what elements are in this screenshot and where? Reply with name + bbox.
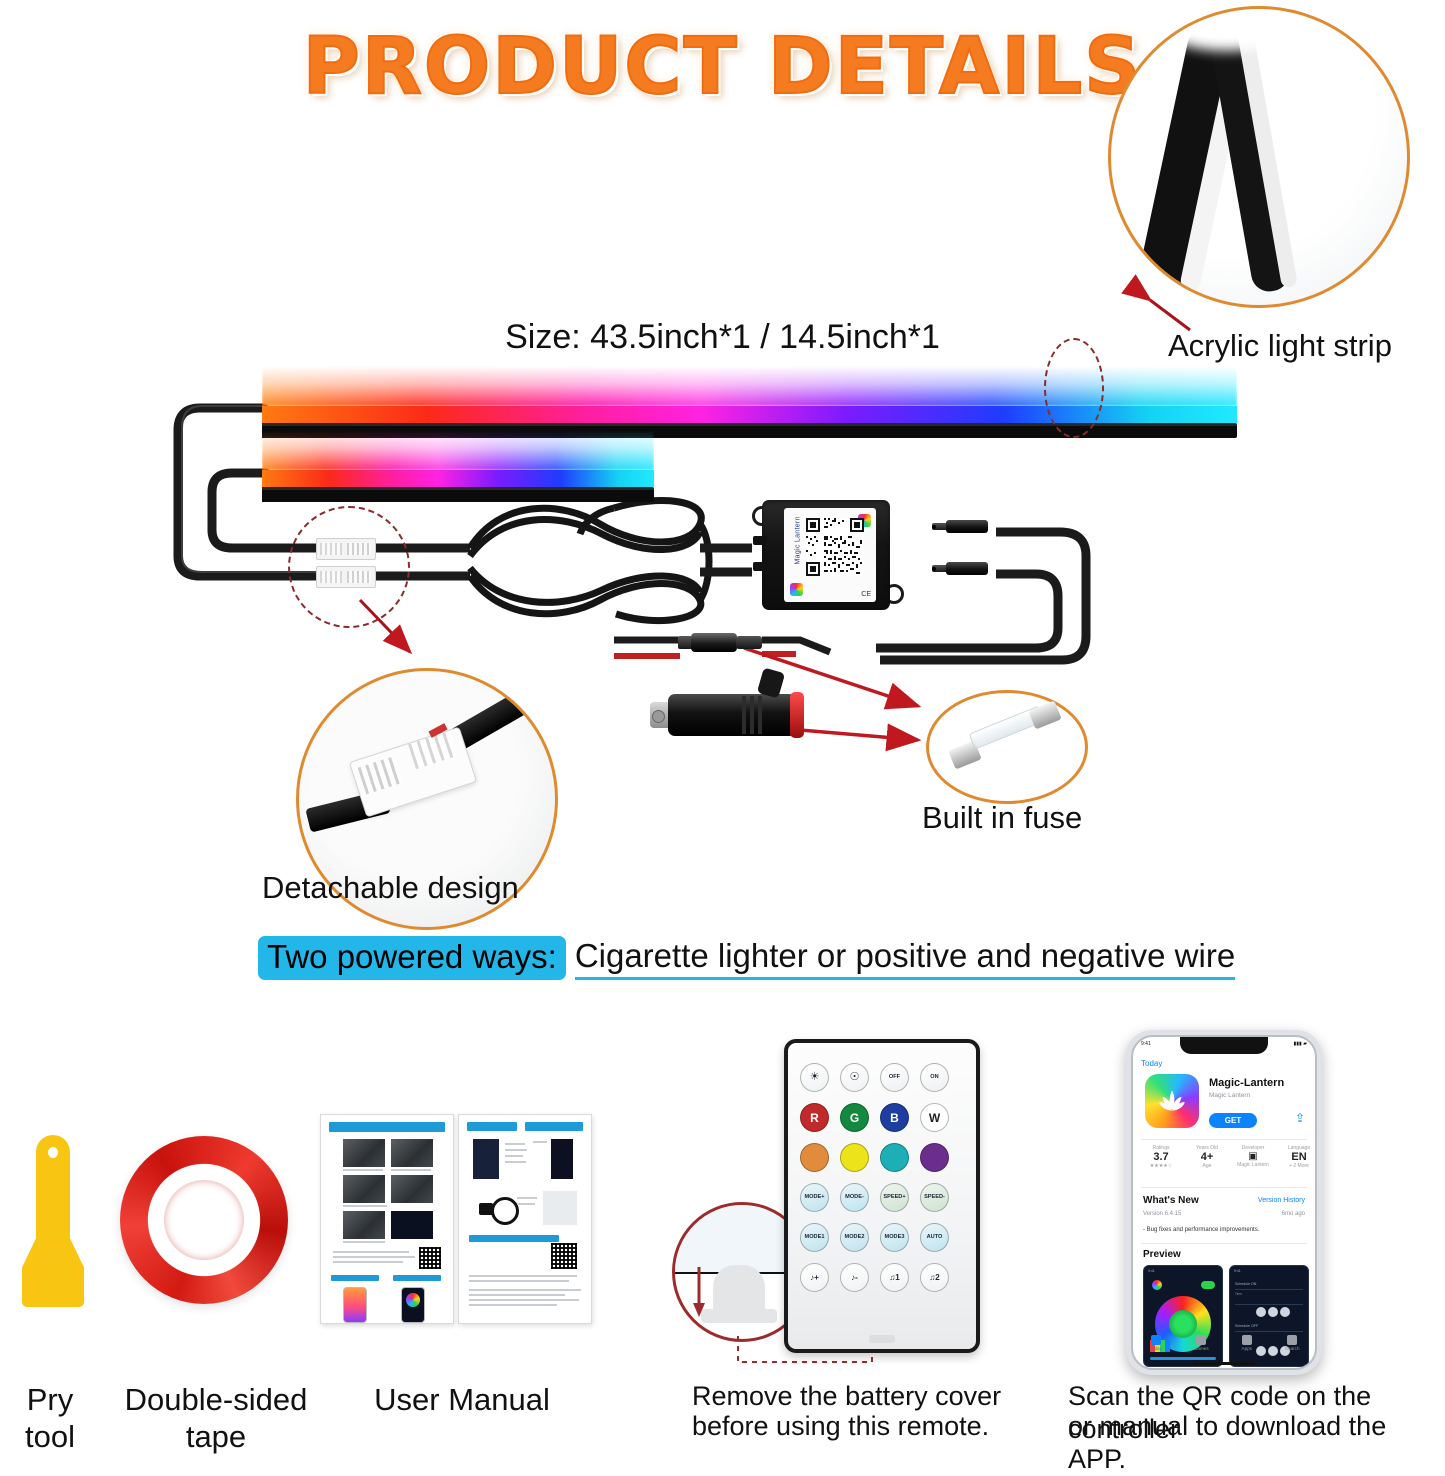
stat-rating: Ratings 3.7 ★★★★☆	[1139, 1145, 1183, 1169]
lang-note: + 2 More	[1277, 1163, 1317, 1169]
controller-port-1	[753, 536, 767, 545]
tab-games[interactable]: Games	[1179, 1332, 1225, 1358]
pry-tool-blade	[22, 1239, 84, 1307]
strip-base	[262, 487, 654, 502]
status-time: 9:41	[1141, 1041, 1151, 1047]
divider	[1141, 1139, 1307, 1140]
dc-barrel	[946, 562, 988, 575]
preview-heading: Preview	[1143, 1249, 1181, 1260]
remote-button-r[interactable]: R	[800, 1103, 829, 1132]
connector-upper	[316, 538, 376, 560]
search-icon	[1287, 1335, 1297, 1345]
tab-search[interactable]: Search	[1270, 1332, 1316, 1358]
ce-mark: CE	[861, 591, 871, 598]
tab-label: Search	[1285, 1346, 1300, 1351]
tab-label: Games	[1194, 1346, 1209, 1351]
remote-brightness-down-icon[interactable]: ☉	[840, 1063, 869, 1092]
pry-tool	[22, 1135, 84, 1310]
status-icons: ▮▮▮ ▰	[1294, 1041, 1308, 1047]
version-history-link[interactable]: Version History	[1258, 1197, 1305, 1204]
remote-button-mode2[interactable]: MODE2	[840, 1223, 869, 1252]
remote-battery-cover[interactable]	[869, 1335, 895, 1343]
remote-color-button-2-3[interactable]	[920, 1143, 949, 1172]
pry-tool-label: Pry tool	[0, 1382, 100, 1455]
qr-code-icon	[806, 518, 864, 576]
remote-button-speed-[interactable]: SPEED-	[920, 1183, 949, 1212]
music-1-icon: ♫1	[889, 1274, 899, 1282]
dc-plug-2	[932, 562, 1002, 575]
stat-language: Language EN + 2 More	[1277, 1145, 1317, 1169]
share-icon[interactable]: ⇪	[1295, 1111, 1305, 1125]
remote-button-speed-[interactable]: SPEED+	[880, 1183, 909, 1212]
acrylic-callout-marker	[1044, 338, 1104, 438]
brightness-down-icon: ☉	[850, 1072, 860, 1083]
double-sided-tape	[120, 1136, 288, 1304]
pry-tool-hole	[48, 1147, 58, 1158]
down-arrow-icon	[689, 1267, 709, 1319]
detachable-caption: Detachable design	[262, 870, 519, 907]
developer-icon: ▣	[1231, 1151, 1275, 1162]
changelog: - Bug fixes and performance improvements…	[1143, 1227, 1259, 1233]
short-light-strip	[262, 430, 654, 502]
connector-lower	[316, 566, 376, 588]
home-indicator	[1193, 1362, 1255, 1365]
fuse-magnifier	[926, 690, 1088, 804]
tab-label: Apps	[1242, 1346, 1252, 1351]
tab-apps[interactable]: Apps	[1224, 1332, 1270, 1358]
remote-color-button-2-1[interactable]	[840, 1143, 869, 1172]
controller-housing: Magic Lantern	[762, 500, 890, 610]
music-minus-icon: ♪-	[851, 1274, 858, 1282]
remote-color-button-2-0[interactable]	[800, 1143, 829, 1172]
app-name: Magic-Lantern	[1209, 1077, 1284, 1089]
powered-ways-badge: Two powered ways:	[258, 936, 566, 980]
today-icon	[1151, 1335, 1161, 1345]
powered-ways-text: Cigarette lighter or positive and negati…	[575, 937, 1235, 980]
app-tabbar: Today Games Apps Search	[1133, 1332, 1315, 1358]
inline-fuse-holder	[678, 632, 766, 654]
powered-ways-row: Two powered ways: Cigarette lighter or p…	[258, 936, 1235, 980]
strip-glow	[262, 430, 654, 470]
apps-icon	[1242, 1335, 1252, 1345]
games-icon	[1196, 1335, 1206, 1345]
controller-label: Magic Lantern	[784, 508, 876, 602]
stat-developer: Developer ▣ Magic Lantern	[1231, 1145, 1275, 1168]
fuse-caption: Built in fuse	[922, 800, 1082, 837]
remote-button-on[interactable]: ON	[920, 1063, 949, 1092]
scan-note-line2: or manual to download the APP.	[1068, 1410, 1445, 1476]
version-label: Version 6.4.15	[1143, 1211, 1181, 1217]
user-manual-label: User Manual	[356, 1382, 568, 1419]
strip-core	[262, 470, 654, 487]
remote-button-mode1[interactable]: MODE1	[800, 1223, 829, 1252]
brightness-up-icon: ☀	[810, 1072, 820, 1083]
whats-new-heading: What's New	[1143, 1195, 1199, 1206]
controller-brand-text: Magic Lantern	[795, 515, 802, 565]
user-manual-page-2	[458, 1114, 592, 1324]
controller-port-2	[753, 562, 767, 571]
double-sided-tape-label: Double-sided tape	[110, 1382, 322, 1455]
remote-music-minus-icon[interactable]: ♪-	[840, 1263, 869, 1292]
remote-music-plus-icon[interactable]: ♪+	[800, 1263, 829, 1292]
remote-color-button-2-2[interactable]	[880, 1143, 909, 1172]
app-icon	[1145, 1074, 1199, 1128]
remote-note-line2: before using this remote.	[692, 1410, 989, 1443]
app-subtitle: Magic Lantern	[1209, 1092, 1250, 1099]
cigarette-lighter-plug	[650, 682, 840, 748]
phone-screen: 9:41 ▮▮▮ ▰ Today Magic-Lantern Magic Lan…	[1131, 1035, 1317, 1370]
rating-stars-icon: ★★★★☆	[1139, 1163, 1183, 1169]
back-nav[interactable]: Today	[1141, 1059, 1162, 1068]
remote-note-line1: Remove the battery cover	[692, 1380, 1001, 1413]
remote-music-1-icon[interactable]: ♫1	[880, 1263, 909, 1292]
remote-control: ☀☉OFFONRGBWMODE+MODE-SPEED+SPEED-MODE1MO…	[784, 1039, 980, 1353]
remote-button-w[interactable]: W	[920, 1103, 949, 1132]
dc-plug-1	[932, 520, 1002, 533]
music-plus-icon: ♪+	[810, 1274, 819, 1282]
phone-mockup: 9:41 ▮▮▮ ▰ Today Magic-Lantern Magic Lan…	[1126, 1030, 1322, 1375]
stat-value: 3.7	[1139, 1151, 1183, 1163]
version-age: 6mo ago	[1282, 1211, 1305, 1217]
phone-notch	[1180, 1037, 1268, 1054]
acrylic-caption: Acrylic light strip	[1168, 328, 1392, 365]
get-button[interactable]: GET	[1209, 1113, 1257, 1128]
remote-button-b[interactable]: B	[880, 1103, 909, 1132]
brand-logo-icon	[790, 583, 803, 596]
lotus-icon	[1155, 1084, 1189, 1118]
stat-age: Years Old 4+ Age	[1185, 1145, 1229, 1169]
remote-button-auto[interactable]: AUTO	[920, 1223, 949, 1252]
divider-3	[1141, 1243, 1307, 1244]
tab-today[interactable]: Today	[1133, 1332, 1179, 1358]
user-manual-page-1	[320, 1114, 454, 1324]
remote-button-off[interactable]: OFF	[880, 1063, 909, 1092]
developer-note: Magic Lantern	[1231, 1162, 1275, 1168]
divider-2	[1141, 1187, 1307, 1188]
remote-button-mode3[interactable]: MODE3	[880, 1223, 909, 1252]
remote-button-g[interactable]: G	[840, 1103, 869, 1132]
stat-value: 4+	[1185, 1151, 1229, 1163]
stat-value: EN	[1277, 1151, 1317, 1163]
acrylic-magnifier	[1108, 6, 1410, 308]
remote-button-mode-[interactable]: MODE-	[840, 1183, 869, 1212]
tab-label: Today	[1150, 1346, 1162, 1351]
remote-music-2-icon[interactable]: ♫2	[920, 1263, 949, 1292]
music-2-icon: ♫2	[929, 1274, 939, 1282]
controller-box: Magic Lantern	[752, 500, 900, 610]
remote-button-mode-[interactable]: MODE+	[800, 1183, 829, 1212]
remote-brightness-up-icon[interactable]: ☀	[800, 1063, 829, 1092]
age-note: Age	[1185, 1163, 1229, 1169]
dc-barrel	[946, 520, 988, 533]
